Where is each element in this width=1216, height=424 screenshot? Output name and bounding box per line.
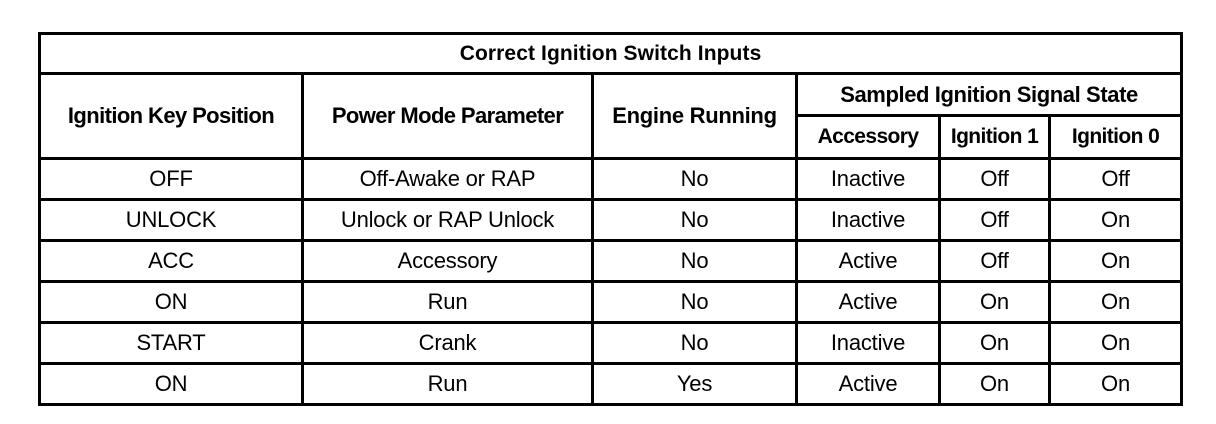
column-header-ignition-1: Ignition 1 — [940, 116, 1050, 159]
cell-engine-running: No — [593, 282, 797, 323]
table-row: ON Run No Active On On — [40, 282, 1182, 323]
cell-power-mode: Accessory — [303, 241, 593, 282]
column-header-power-mode-parameter: Power Mode Parameter — [303, 74, 593, 159]
table-row: ON Run Yes Active On On — [40, 364, 1182, 405]
cell-ignition-1: On — [940, 323, 1050, 364]
cell-power-mode: Run — [303, 282, 593, 323]
column-header-ignition-key-position: Ignition Key Position — [40, 74, 303, 159]
table-header-row-primary: Ignition Key Position Power Mode Paramet… — [40, 74, 1182, 116]
cell-ignition-1: Off — [940, 241, 1050, 282]
cell-ignition-0: On — [1050, 323, 1182, 364]
cell-ignition-1: On — [940, 282, 1050, 323]
cell-ignition-0: Off — [1050, 159, 1182, 200]
column-header-ignition-0: Ignition 0 — [1050, 116, 1182, 159]
cell-key-position: ON — [40, 282, 303, 323]
cell-accessory: Active — [797, 241, 940, 282]
cell-key-position: OFF — [40, 159, 303, 200]
cell-power-mode: Run — [303, 364, 593, 405]
table-title-row: Correct Ignition Switch Inputs — [40, 34, 1182, 74]
cell-power-mode: Crank — [303, 323, 593, 364]
table-row: START Crank No Inactive On On — [40, 323, 1182, 364]
column-group-header-sampled-ignition-signal-state: Sampled Ignition Signal State — [797, 74, 1182, 116]
cell-key-position: UNLOCK — [40, 200, 303, 241]
cell-accessory: Inactive — [797, 159, 940, 200]
table-title: Correct Ignition Switch Inputs — [40, 34, 1182, 74]
cell-ignition-1: Off — [940, 159, 1050, 200]
cell-accessory: Active — [797, 282, 940, 323]
cell-ignition-0: On — [1050, 364, 1182, 405]
cell-accessory: Inactive — [797, 200, 940, 241]
ignition-switch-table-container: Correct Ignition Switch Inputs Ignition … — [38, 32, 1180, 402]
column-header-engine-running: Engine Running — [593, 74, 797, 159]
cell-accessory: Active — [797, 364, 940, 405]
table-row: ACC Accessory No Active Off On — [40, 241, 1182, 282]
cell-power-mode: Off-Awake or RAP — [303, 159, 593, 200]
table-row: OFF Off-Awake or RAP No Inactive Off Off — [40, 159, 1182, 200]
cell-ignition-0: On — [1050, 282, 1182, 323]
cell-accessory: Inactive — [797, 323, 940, 364]
column-header-accessory: Accessory — [797, 116, 940, 159]
cell-key-position: ON — [40, 364, 303, 405]
cell-key-position: START — [40, 323, 303, 364]
cell-ignition-0: On — [1050, 200, 1182, 241]
cell-ignition-0: On — [1050, 241, 1182, 282]
cell-engine-running: No — [593, 159, 797, 200]
cell-engine-running: No — [593, 200, 797, 241]
cell-engine-running: No — [593, 241, 797, 282]
cell-power-mode: Unlock or RAP Unlock — [303, 200, 593, 241]
cell-ignition-1: Off — [940, 200, 1050, 241]
cell-key-position: ACC — [40, 241, 303, 282]
ignition-switch-table: Correct Ignition Switch Inputs Ignition … — [38, 32, 1183, 406]
cell-engine-running: Yes — [593, 364, 797, 405]
cell-engine-running: No — [593, 323, 797, 364]
cell-ignition-1: On — [940, 364, 1050, 405]
table-row: UNLOCK Unlock or RAP Unlock No Inactive … — [40, 200, 1182, 241]
